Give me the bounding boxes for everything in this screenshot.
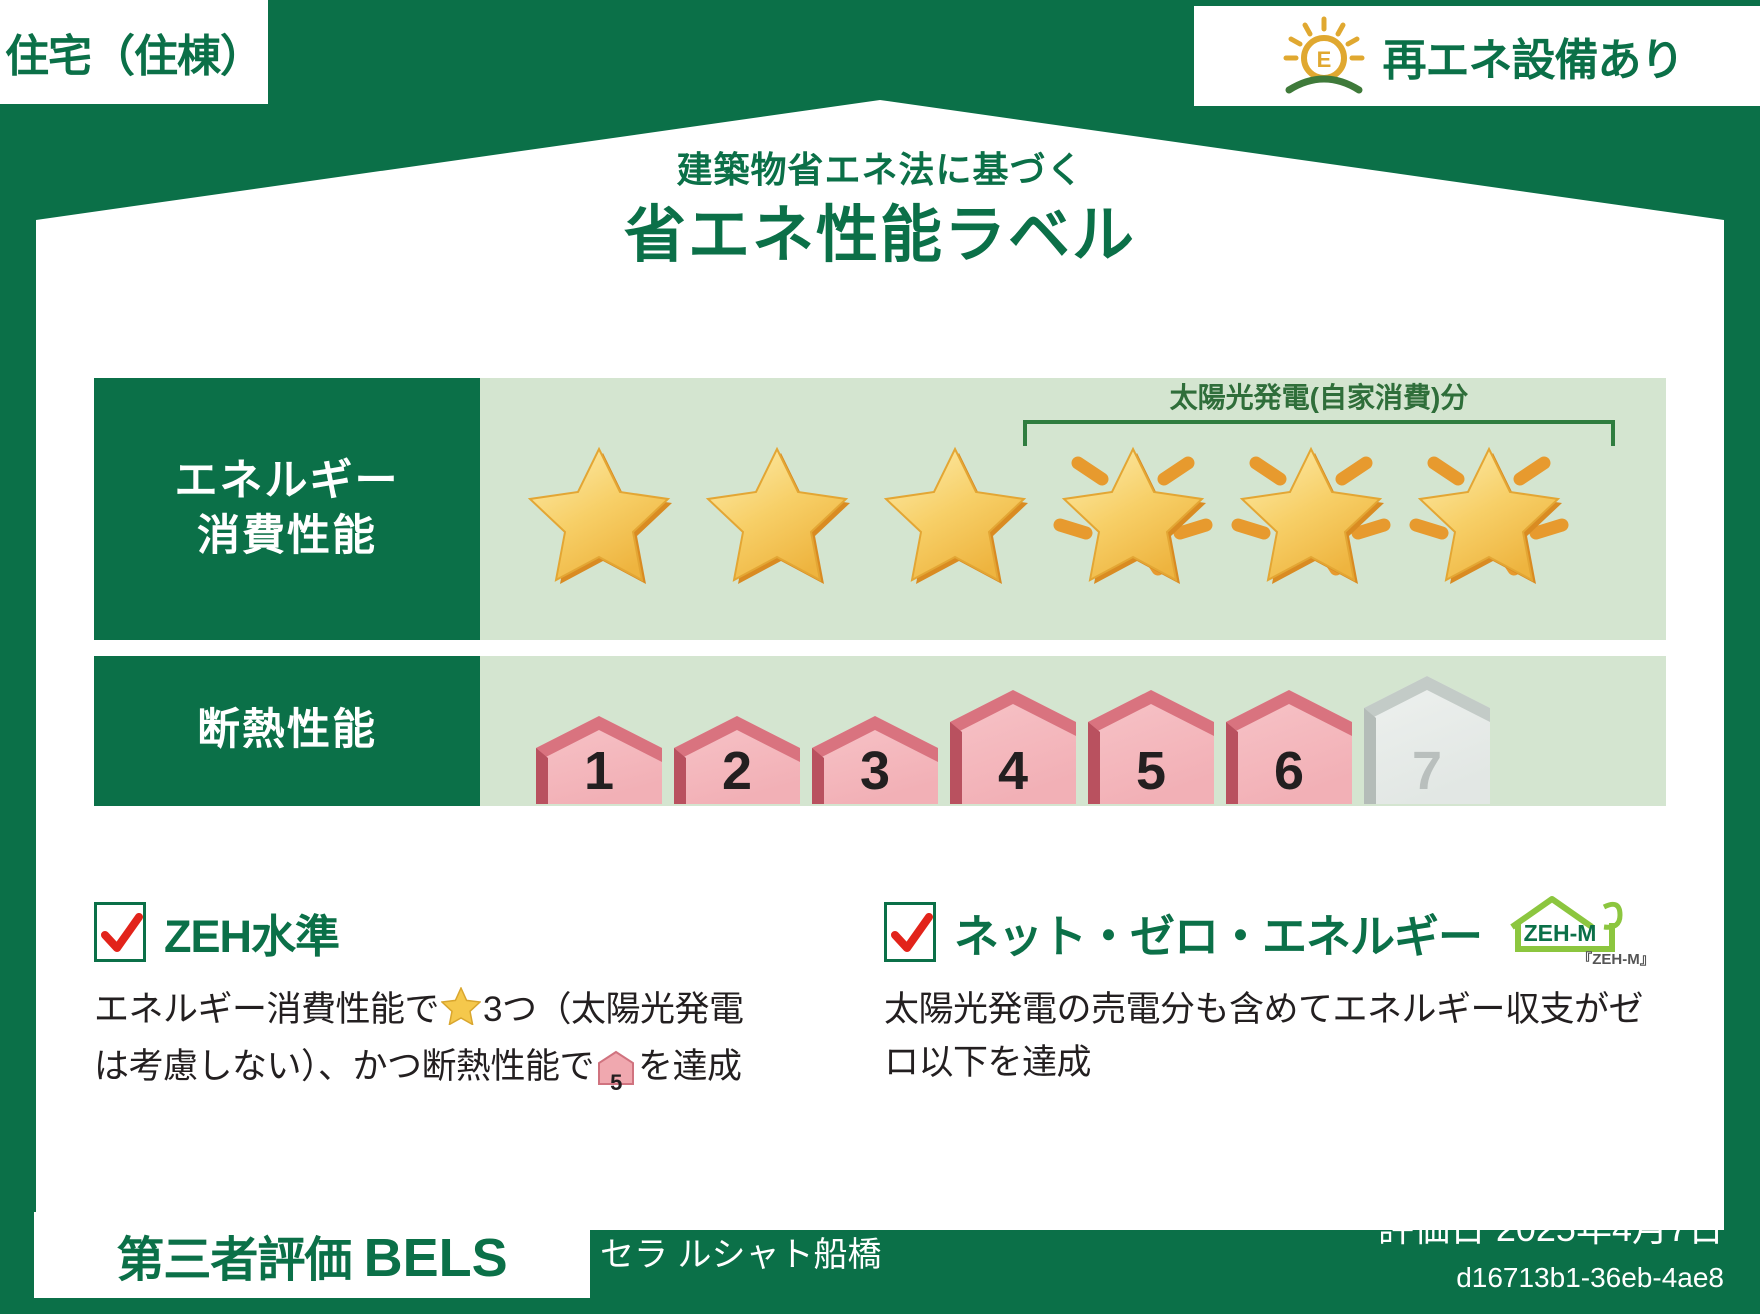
zeh-standard-checkbox[interactable] — [94, 902, 146, 962]
zeh-standard-description: エネルギー消費性能で3つ（太陽光発電は考慮しない）、かつ断熱性能で5を達成 — [94, 984, 854, 1101]
solar-energy-icon: E — [1281, 16, 1367, 96]
solar-generation-bracket — [1023, 420, 1615, 446]
insulation-grade-number: 2 — [668, 744, 806, 798]
label-title: 省エネ性能ラベル — [0, 197, 1760, 275]
zeh-standard-title: ZEH水準 — [164, 900, 339, 965]
star-2 — [688, 424, 866, 594]
zeh-standard-column: ZEH水準 エネルギー消費性能で3つ（太陽光発電は考慮しない）、かつ断熱性能で5… — [94, 900, 854, 1101]
building-type-badge: 住宅（住棟） — [0, 0, 268, 104]
insulation-performance-body: 1234567 — [480, 656, 1666, 806]
star-rating — [480, 378, 1666, 640]
star-5 — [1222, 424, 1400, 594]
zeh-m-logo: ZEH-M 『ZEH-M』 — [1504, 893, 1654, 972]
energy-performance-label-line1: エネルギー — [175, 454, 400, 509]
insulation-grade-1: 1 — [530, 714, 668, 806]
star-1 — [510, 424, 688, 594]
zeh-standard-desc-part2: は考慮しない）、かつ断熱性能で — [94, 1047, 594, 1086]
insulation-grade-number: 7 — [1358, 744, 1496, 798]
net-zero-energy-title: ネット・ゼロ・エネルギー — [954, 900, 1482, 965]
net-zero-energy-column: ネット・ゼロ・エネルギー ZEH-M 『ZEH-M』 太陽光発電の売電分も含めて… — [884, 900, 1644, 1101]
bels-label-en: BELS — [364, 1228, 508, 1288]
star-3 — [866, 424, 1044, 594]
renewable-energy-badge: E 再エネ設備あり — [1194, 6, 1760, 106]
energy-performance-body: 太陽光発電(自家消費)分 — [480, 378, 1666, 640]
zeh-standard-header: ZEH水準 — [94, 900, 854, 964]
insulation-grade-number: 4 — [944, 744, 1082, 798]
inline-star-icon — [441, 994, 481, 1033]
svg-text:『ZEH-M』: 『ZEH-M』 — [1577, 950, 1654, 967]
star-6 — [1400, 424, 1578, 594]
insulation-grade-number: 1 — [530, 744, 668, 798]
solar-generation-caption: 太陽光発電(自家消費)分 — [1023, 376, 1615, 416]
net-zero-energy-header: ネット・ゼロ・エネルギー ZEH-M 『ZEH-M』 — [884, 900, 1644, 964]
insulation-performance-label: 断熱性能 — [94, 656, 480, 806]
inline-house-icon: 5 — [597, 1049, 635, 1102]
insulation-grade-6: 6 — [1220, 688, 1358, 806]
zeh-standard-desc-part3: を達成 — [638, 1047, 742, 1086]
footer: 第三者評価 BELS セラ ルシャト船橋 評価日 2025年4月7日 d1671… — [0, 1194, 1760, 1314]
net-zero-energy-checkbox[interactable] — [884, 902, 936, 962]
energy-performance-row: エネルギー 消費性能 太陽光発電(自家消費)分 — [94, 378, 1666, 640]
insulation-grade-2: 2 — [668, 714, 806, 806]
insulation-grade-7: 7 — [1358, 674, 1496, 806]
building-type-label: 住宅（住棟） — [5, 20, 263, 84]
insulation-performance-row: 断熱性能 1234567 — [94, 656, 1666, 806]
star-4 — [1044, 424, 1222, 594]
evaluation-id: d16713b1-36eb-4ae8 — [1456, 1262, 1724, 1294]
evaluation-date: 評価日 2025年4月7日 — [1378, 1200, 1724, 1252]
insulation-grade-scale: 1234567 — [480, 656, 1666, 806]
bels-label: 第三者評価 BELS — [116, 1220, 507, 1290]
bels-badge: 第三者評価 BELS — [34, 1212, 590, 1298]
insulation-grade-3: 3 — [806, 714, 944, 806]
energy-performance-label: エネルギー 消費性能 — [94, 378, 480, 640]
label-subtitle: 建築物省エネ法に基づく — [0, 148, 1760, 191]
svg-text:E: E — [1316, 47, 1331, 72]
insulation-grade-number: 6 — [1220, 744, 1358, 798]
renewable-energy-label: 再エネ設備あり — [1383, 24, 1684, 88]
zeh-standard-desc-stars: 3つ（太陽光発電 — [483, 990, 743, 1029]
insulation-grade-number: 5 — [1082, 744, 1220, 798]
zeh-standard-desc-part1: エネルギー消費性能で — [94, 990, 439, 1029]
svg-text:ZEH-M: ZEH-M — [1524, 920, 1597, 946]
net-zero-energy-description: 太陽光発電の売電分も含めてエネルギー収支がゼロ以下を達成 — [884, 984, 1644, 1089]
insulation-grade-number: 3 — [806, 744, 944, 798]
zeh-section: ZEH水準 エネルギー消費性能で3つ（太陽光発電は考慮しない）、かつ断熱性能で5… — [94, 900, 1674, 1101]
bels-label-jp: 第三者評価 — [116, 1234, 363, 1287]
bels-energy-label: 住宅（住棟） E 再エネ設備あり 建築物省エネ法に基づ — [0, 0, 1760, 1314]
building-name: セラ ルシャト船橋 — [600, 1227, 881, 1276]
inline-house-number: 5 — [597, 1066, 635, 1099]
title-block: 建築物省エネ法に基づく 省エネ性能ラベル — [0, 148, 1760, 275]
insulation-grade-4: 4 — [944, 688, 1082, 806]
energy-performance-label-line2: 消費性能 — [197, 509, 377, 564]
insulation-performance-label-text: 断熱性能 — [197, 703, 377, 758]
insulation-grade-5: 5 — [1082, 688, 1220, 806]
